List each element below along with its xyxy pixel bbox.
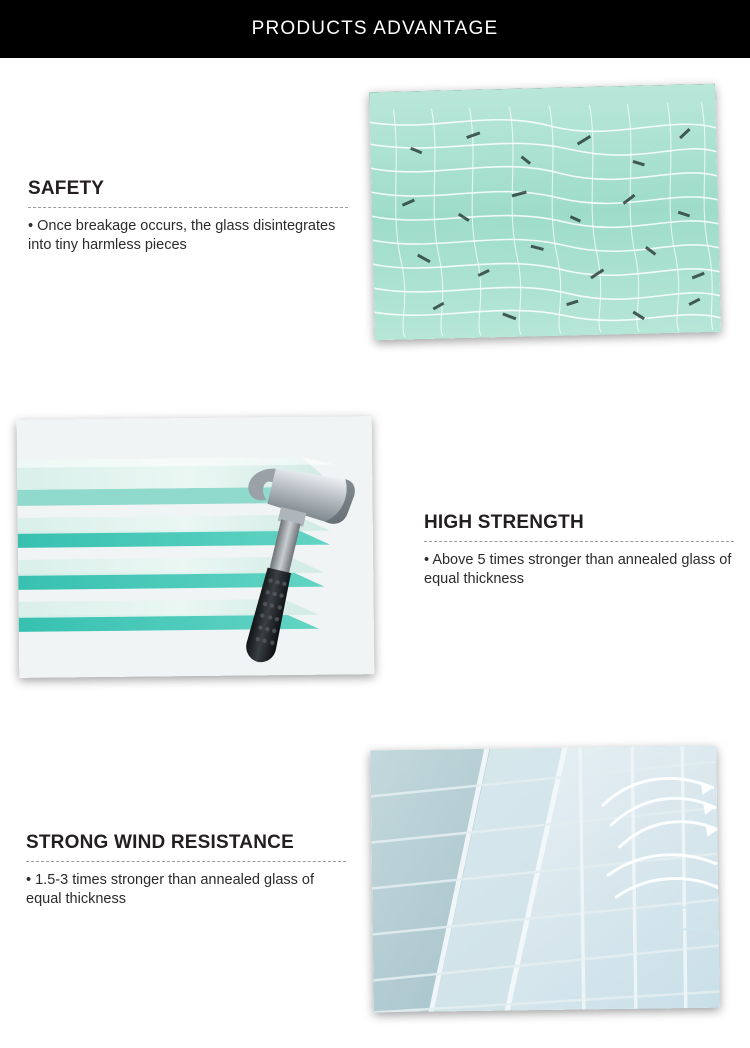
section-body-high-strength: • Above 5 times stronger than annealed g… <box>424 551 734 589</box>
section-body-strong-wind-resistance: • 1.5-3 times stronger than annealed gla… <box>26 871 346 909</box>
shatter-pattern-graphic <box>369 84 721 340</box>
section-safety: SAFETY • Once breakage occurs, the glass… <box>28 178 348 255</box>
bullet-icon: • <box>26 872 31 888</box>
glass-stack-and-hammer-graphic <box>17 416 375 678</box>
section-body-text-safety: Once breakage occurs, the glass disinteg… <box>28 218 335 253</box>
hammer-on-glass-stack-photo <box>17 416 375 678</box>
glass-facade-wind-photo <box>370 746 720 1013</box>
section-body-text-strong-wind-resistance: 1.5-3 times stronger than annealed glass… <box>26 872 314 907</box>
divider-strong-wind-resistance <box>26 860 346 862</box>
shattered-tempered-glass-photo <box>369 84 721 340</box>
section-body-safety: • Once breakage occurs, the glass disint… <box>28 217 348 255</box>
section-title-strong-wind-resistance: STRONG WIND RESISTANCE <box>26 832 346 854</box>
page-title: PRODUCTS ADVANTAGE <box>0 0 750 58</box>
divider-safety <box>28 206 348 208</box>
section-body-text-high-strength: Above 5 times stronger than annealed gla… <box>424 552 731 587</box>
bullet-icon: • <box>424 552 429 568</box>
section-high-strength: HIGH STRENGTH • Above 5 times stronger t… <box>424 512 734 589</box>
glass-facade-graphic <box>370 746 720 1013</box>
section-title-safety: SAFETY <box>28 178 348 200</box>
section-strong-wind-resistance: STRONG WIND RESISTANCE • 1.5-3 times str… <box>26 832 346 909</box>
bullet-icon: • <box>28 218 33 234</box>
advantage-page: PRODUCTS ADVANTAGE <box>0 0 750 1048</box>
section-title-high-strength: HIGH STRENGTH <box>424 512 734 534</box>
divider-high-strength <box>424 540 734 542</box>
